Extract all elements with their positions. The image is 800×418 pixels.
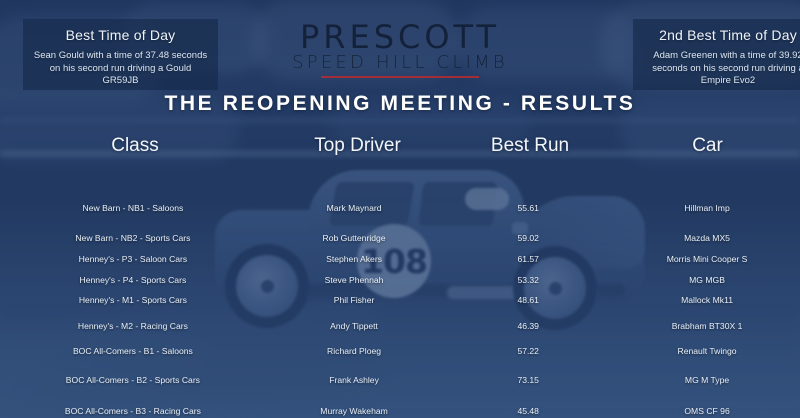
cell-car: OMS CF 96 <box>614 406 800 417</box>
cell-driver: Richard Ploeg <box>266 346 443 357</box>
results-table: Class Top Driver Best Run Car New Barn -… <box>0 135 800 418</box>
cell-class: New Barn - NB2 - Sports Cars <box>0 233 266 244</box>
cell-run: 53.32 <box>442 275 614 286</box>
cell-run: 45.48 <box>442 406 614 417</box>
cell-car: Hillman Imp <box>614 203 800 214</box>
cell-run: 61.57 <box>442 254 614 265</box>
cell-driver: Murray Wakeham <box>266 406 443 417</box>
cell-driver: Phil Fisher <box>266 295 443 306</box>
cell-class: Henney's - M1 - Sports Cars <box>0 295 266 306</box>
cell-run: 57.22 <box>442 346 614 357</box>
cell-class: Henney's - P3 - Saloon Cars <box>0 254 266 265</box>
cell-car: Mallock Mk11 <box>614 295 800 306</box>
cell-run: 55.61 <box>442 203 614 214</box>
cell-car: Mazda MX5 <box>614 233 800 244</box>
table-body: New Barn - NB1 - SaloonsMark Maynard55.6… <box>0 163 800 418</box>
logo-main-text: PRESCOTT <box>0 20 800 54</box>
cell-run: 73.15 <box>442 375 614 386</box>
cell-driver: Andy Tippett <box>266 321 443 332</box>
table-header-row: Class Top Driver Best Run Car <box>0 135 800 163</box>
table-row: New Barn - NB1 - SaloonsMark Maynard55.6… <box>0 198 800 218</box>
cell-class: BOC All-Comers - B1 - Saloons <box>0 346 266 357</box>
table-row: Henney's - P3 - Saloon CarsStephen Akers… <box>0 249 800 269</box>
prescott-logo: PRESCOTT SPEED HILL CLIMB <box>0 20 800 78</box>
column-header-driver: Top Driver <box>270 135 445 157</box>
results-poster: 108 Best Time of Day Sean Gould with a t… <box>0 0 800 418</box>
cell-car: Morris Mini Cooper S <box>614 254 800 265</box>
cell-driver: Frank Ashley <box>266 375 443 386</box>
cell-driver: Steve Phennah <box>266 275 443 286</box>
cell-run: 46.39 <box>442 321 614 332</box>
cell-class: Henney's - P4 - Sports Cars <box>0 275 266 286</box>
table-row: Henney's - M2 - Racing CarsAndy Tippett4… <box>0 316 800 336</box>
table-row: BOC All-Comers - B1 - SaloonsRichard Plo… <box>0 341 800 361</box>
cell-driver: Stephen Akers <box>266 254 443 265</box>
column-header-car: Car <box>615 135 800 157</box>
table-row: BOC All-Comers - B3 - Racing CarsMurray … <box>0 401 800 418</box>
table-row: Henney's - M1 - Sports CarsPhil Fisher48… <box>0 290 800 310</box>
cell-car: MG MGB <box>614 275 800 286</box>
cell-run: 59.02 <box>442 233 614 244</box>
cell-class: Henney's - M2 - Racing Cars <box>0 321 266 332</box>
table-row: Henney's - P4 - Sports CarsSteve Phennah… <box>0 270 800 290</box>
cell-driver: Mark Maynard <box>266 203 443 214</box>
table-row: New Barn - NB2 - Sports CarsRob Guttenri… <box>0 228 800 248</box>
logo-sub-text: SPEED HILL CLIMB <box>0 53 800 73</box>
cell-run: 48.61 <box>442 295 614 306</box>
table-row: BOC All-Comers - B2 - Sports CarsFrank A… <box>0 370 800 390</box>
cell-car: Renault Twingo <box>614 346 800 357</box>
cell-car: Brabham BT30X 1 <box>614 321 800 332</box>
cell-car: MG M Type <box>614 375 800 386</box>
cell-driver: Rob Guttenridge <box>266 233 443 244</box>
column-header-run: Best Run <box>445 135 615 157</box>
page-title: THE REOPENING MEETING - RESULTS <box>0 92 800 116</box>
cell-class: BOC All-Comers - B2 - Sports Cars <box>0 375 266 386</box>
column-header-class: Class <box>0 135 270 157</box>
logo-red-rule <box>321 76 479 78</box>
cell-class: New Barn - NB1 - Saloons <box>0 203 266 214</box>
cell-class: BOC All-Comers - B3 - Racing Cars <box>0 406 266 417</box>
